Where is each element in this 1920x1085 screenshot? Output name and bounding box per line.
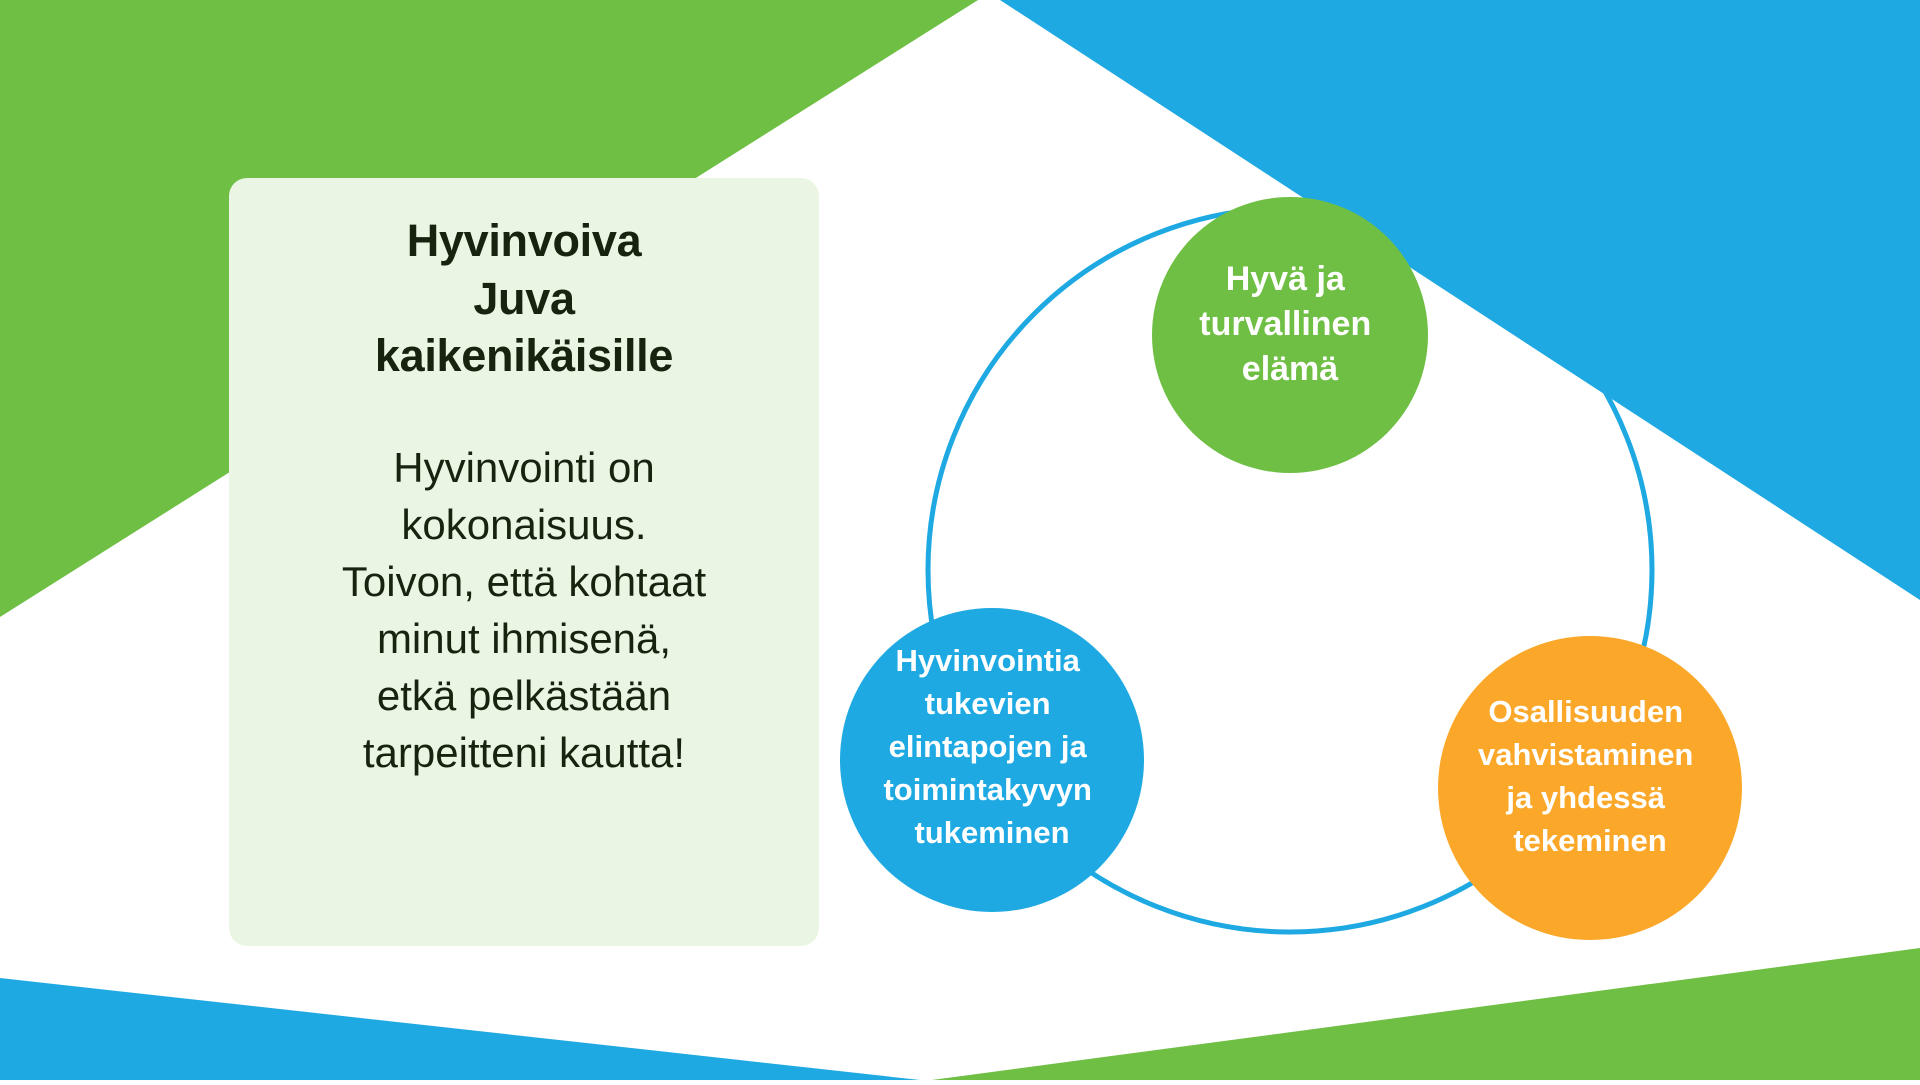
cycle-node-hyva-ja-turvallinen-elama[interactable]: Hyvä ja turvallinen elämä bbox=[1152, 197, 1428, 473]
info-card: Hyvinvoiva Juva kaikenikäisille Hyvinvoi… bbox=[229, 178, 819, 946]
card-title: Hyvinvoiva Juva kaikenikäisille bbox=[253, 212, 795, 385]
cycle-diagram: Hyvä ja turvallinen elämä Hyvinvointia t… bbox=[820, 100, 1900, 980]
card-body-text: Hyvinvointi on kokonaisuus. Toivon, että… bbox=[253, 439, 795, 782]
node-label-blue: Hyvinvointia tukevien elintapojen ja toi… bbox=[883, 643, 1100, 850]
bottom-left-blue-wedge bbox=[0, 978, 920, 1080]
cycle-node-osallisuuden-vahvistaminen[interactable]: Osallisuuden vahvistaminen ja yhdessä te… bbox=[1438, 636, 1742, 940]
slide-canvas: Hyvinvoiva Juva kaikenikäisille Hyvinvoi… bbox=[0, 0, 1920, 1080]
cycle-node-hyvinvointia-tukevien-elintapojen[interactable]: Hyvinvointia tukevien elintapojen ja toi… bbox=[840, 608, 1144, 912]
